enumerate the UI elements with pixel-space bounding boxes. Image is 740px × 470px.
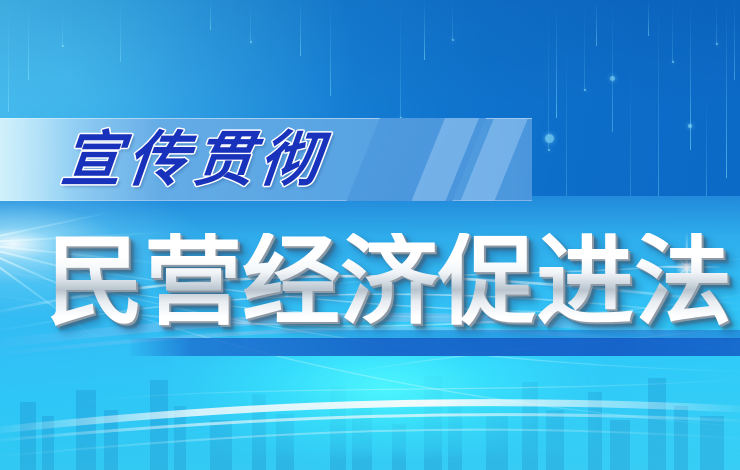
falling-data-line <box>596 0 597 46</box>
banner-subtitle-text: 宣传贯彻 <box>58 119 397 201</box>
falling-data-dot <box>545 134 554 143</box>
falling-data-line <box>548 0 549 150</box>
falling-data-dot <box>688 124 692 128</box>
falling-data-dot <box>672 61 674 63</box>
falling-data-dot <box>452 39 454 41</box>
falling-data-dot <box>62 45 64 47</box>
headline-title: 民营经济促进法 <box>46 226 718 338</box>
falling-data-dot <box>610 76 615 81</box>
falling-data-line <box>452 0 453 40</box>
headline-char: 经 <box>242 233 340 331</box>
falling-data-dot <box>250 41 252 43</box>
falling-data-line <box>734 0 735 80</box>
falling-data-line <box>726 0 727 178</box>
falling-data-line <box>250 0 251 42</box>
falling-data-line <box>400 0 401 118</box>
headline-char: 促 <box>438 233 536 331</box>
falling-data-line <box>62 0 63 46</box>
falling-data-dot <box>548 149 550 151</box>
falling-data-line <box>8 0 9 112</box>
headline-char: 法 <box>634 233 732 331</box>
dark-strip-main <box>130 338 740 356</box>
falling-data-line <box>630 60 631 210</box>
falling-data-line <box>716 0 717 44</box>
headline-char: 济 <box>340 233 438 331</box>
falling-data-line <box>612 0 613 132</box>
falling-data-line <box>424 0 425 60</box>
falling-data-line <box>556 0 557 118</box>
falling-data-line <box>672 0 673 62</box>
falling-data-line <box>210 0 211 30</box>
falling-data-line <box>330 0 331 96</box>
falling-data-line <box>658 0 659 210</box>
falling-data-line <box>28 0 29 80</box>
headline-char: 民 <box>46 233 144 331</box>
falling-data-dot <box>584 89 586 91</box>
falling-data-line <box>584 0 585 90</box>
falling-data-line <box>648 0 649 36</box>
headline-char: 进 <box>536 233 634 331</box>
falling-data-dot <box>716 43 718 45</box>
headline-char: 营 <box>144 233 242 331</box>
poster-canvas: 宣传贯彻 民营经济促进法 <box>0 0 740 470</box>
falling-data-line <box>300 0 301 56</box>
falling-data-line <box>120 0 121 62</box>
